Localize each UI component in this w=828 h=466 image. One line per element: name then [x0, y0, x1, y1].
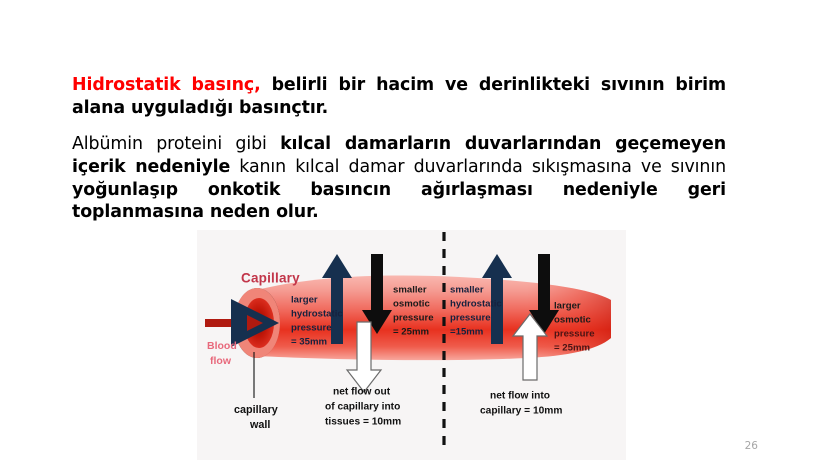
venous-net-flow-line-2: capillary = 10mm: [480, 406, 562, 417]
venous-hydrostatic-line-3: pressure: [450, 313, 491, 324]
term-hidrostatik-basinc: Hidrostatik basınç,: [72, 75, 261, 95]
venous-osmotic-line-2: osmotic: [554, 315, 591, 326]
arterial-net-flow-line-2: of capillary into: [325, 402, 400, 413]
label-blood-flow-line1: Blood: [207, 340, 237, 352]
paragraph-2-run-4: yoğunlaşıp onkotik basıncın ağırlaşması …: [72, 180, 726, 223]
label-capillary: Capillary: [241, 271, 300, 286]
slide-body-text: Hidrostatik basınç, belirli bir hacim ve…: [72, 74, 726, 230]
capillary-diagram-svg: Capillary Blood flow capillary wall larg…: [197, 230, 626, 460]
capillary-exchange-diagram: Capillary Blood flow capillary wall larg…: [197, 230, 626, 460]
arterial-hydrostatic-line-4: = 35mm: [291, 337, 327, 348]
venous-net-flow-line-1: net flow into: [490, 391, 550, 402]
label-capillary-wall-line1: capillary: [234, 404, 278, 416]
arterial-hydrostatic-line-2: hydrostatic: [291, 309, 343, 320]
paragraph-hydrostatic-definition: Hidrostatik basınç, belirli bir hacim ve…: [72, 74, 726, 119]
page-number: 26: [745, 440, 758, 452]
arterial-hydrostatic-line-3: pressure: [291, 323, 332, 334]
slide-canvas: Hidrostatik basınç, belirli bir hacim ve…: [0, 0, 828, 466]
arterial-osmotic-line-3: pressure: [393, 313, 434, 324]
arterial-osmotic-line-2: osmotic: [393, 299, 430, 310]
label-capillary-wall-line2: wall: [249, 419, 270, 431]
label-blood-flow-line2: flow: [210, 355, 232, 367]
venous-hydrostatic-line-2: hydrostatic: [450, 299, 502, 310]
arterial-osmotic-line-4: = 25mm: [393, 327, 429, 338]
arterial-hydrostatic-line-1: larger: [291, 295, 318, 306]
arterial-osmotic-line-1: smaller: [393, 285, 427, 296]
venous-hydrostatic-line-1: smaller: [450, 285, 484, 296]
venous-osmotic-line-3: pressure: [554, 329, 595, 340]
venous-hydrostatic-line-4: =15mm: [450, 327, 483, 338]
venous-osmotic-line-1: larger: [554, 301, 581, 312]
venous-osmotic-line-4: = 25mm: [554, 343, 590, 354]
arterial-net-flow-line-3: tissues = 10mm: [325, 417, 401, 428]
paragraph-2-run-1: Albümin proteini gibi: [72, 134, 280, 154]
arterial-net-flow-line-1: net flow out: [333, 387, 391, 398]
paragraph-2-run-3: kanın kılcal damar duvarlarında sıkışmas…: [230, 157, 726, 177]
paragraph-albumin-explanation: Albümin proteini gibi kılcal damarların …: [72, 133, 726, 224]
